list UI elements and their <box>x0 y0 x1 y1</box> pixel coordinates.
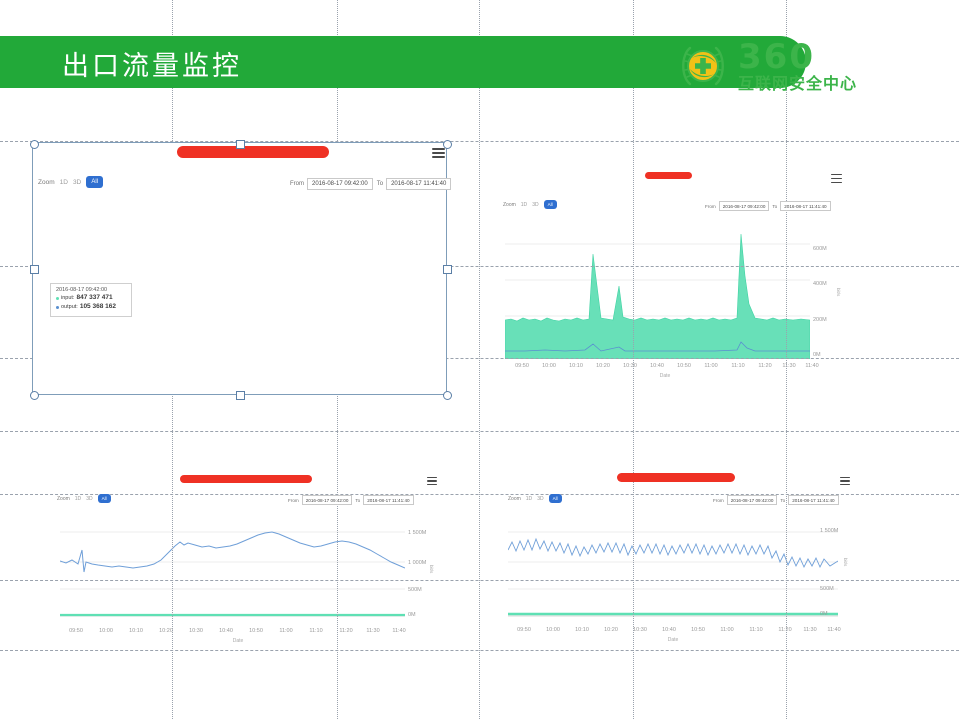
360-shield-icon <box>676 39 730 93</box>
x-axis-name-bottom-left: Date <box>218 638 258 644</box>
to-label: To <box>377 181 383 187</box>
from-input[interactable]: 2016-08-17 09:42:00 <box>727 495 778 505</box>
x-tick-top-right-3: 10:20 <box>592 363 614 369</box>
x-tick-bottom-left-10: 11:30 <box>362 628 384 634</box>
from-input[interactable]: 2016-08-17 09:42:00 <box>719 201 770 211</box>
y-tick-bottom-right-1: 500M <box>820 586 834 592</box>
zoom-label: Zoom <box>38 179 55 186</box>
to-input[interactable]: 2016-08-17 11:41:40 <box>780 201 830 211</box>
resize-handle-tl[interactable] <box>30 140 39 149</box>
x-tick-bottom-right-6: 10:50 <box>687 627 709 633</box>
y-tick-top-right-1: 400M <box>813 281 827 287</box>
zoom-option-3d[interactable]: 3D <box>86 496 92 502</box>
zoom-option-1d[interactable]: 1D <box>526 496 532 502</box>
y-tick-bottom-left-1: 1 000M <box>408 560 426 566</box>
output-color-dot <box>56 306 59 309</box>
y-axis-name-bottom-left: bit/s <box>429 565 434 573</box>
from-label: From <box>713 498 724 503</box>
series-input-line-bottom-left <box>60 532 405 572</box>
x-tick-bottom-right-3: 10:20 <box>600 627 622 633</box>
y-tick-bottom-right-2: 0M <box>820 611 828 617</box>
x-tick-bottom-right-5: 10:40 <box>658 627 680 633</box>
series-input-line-bottom-right <box>508 539 838 567</box>
x-tick-bottom-left-6: 10:50 <box>245 628 267 634</box>
to-label: To <box>772 204 777 209</box>
zoom-option-all[interactable]: All <box>544 200 557 209</box>
brand-logo: 360 互联网安全中心 <box>676 36 916 96</box>
zoom-option-3d[interactable]: 3D <box>73 179 81 186</box>
y-tick-bottom-right-0: 1 500M <box>820 528 838 534</box>
x-tick-bottom-left-9: 11:20 <box>335 628 357 634</box>
zoom-option-3d[interactable]: 3D <box>537 496 543 502</box>
tooltip-input-row: input: 847 337 471 <box>56 294 126 303</box>
chart-menu-icon-top-left[interactable] <box>432 148 445 158</box>
from-label: From <box>705 204 716 209</box>
to-input[interactable]: 2016-08-17 11:41:40 <box>363 495 413 505</box>
x-tick-bottom-right-1: 10:00 <box>542 627 564 633</box>
y-axis-name-top-right: bit/s <box>836 288 841 296</box>
from-input[interactable]: 2016-08-17 09:42:00 <box>302 495 353 505</box>
zoom-option-1d[interactable]: 1D <box>521 202 527 208</box>
resize-handle-bc[interactable] <box>236 391 245 400</box>
chart-menu-icon-bottom-right[interactable] <box>840 477 850 485</box>
x-tick-bottom-left-2: 10:10 <box>125 628 147 634</box>
zoom-controls-bottom-left[interactable]: Zoom 1D 3D All <box>57 494 111 503</box>
x-tick-bottom-right-7: 11:00 <box>716 627 738 633</box>
zoom-label: Zoom <box>503 202 516 208</box>
range-controls-top-left[interactable]: From 2016-08-17 09:42:00 To 2016-08-17 1… <box>290 178 451 190</box>
x-tick-top-right-6: 10:50 <box>673 363 695 369</box>
y-axis-name-bottom-right: bit/s <box>843 558 848 566</box>
x-tick-bottom-right-11: 11:40 <box>823 627 845 633</box>
to-label: To <box>780 498 785 503</box>
x-tick-bottom-right-4: 10:30 <box>629 627 651 633</box>
resize-handle-tc[interactable] <box>236 140 245 149</box>
plot-area-top-right[interactable] <box>505 224 810 359</box>
x-axis-name-bottom-right: Date <box>653 637 693 643</box>
series-input-area-top-right <box>505 234 810 359</box>
y-tick-top-right-3: 0M <box>813 352 821 358</box>
y-tick-top-right-0: 600M <box>813 246 827 252</box>
tooltip-input-label: input: <box>61 295 74 302</box>
range-controls-top-right[interactable]: From 2016-08-17 09:42:00 To 2016-08-17 1… <box>705 201 831 211</box>
resize-handle-br[interactable] <box>443 391 452 400</box>
x-tick-bottom-left-0: 09:50 <box>65 628 87 634</box>
resize-handle-bl[interactable] <box>30 391 39 400</box>
x-tick-top-right-8: 11:10 <box>727 363 749 369</box>
x-axis-name-top-right: Date <box>645 373 685 379</box>
resize-handle-ml[interactable] <box>30 265 39 274</box>
x-tick-bottom-right-2: 10:10 <box>571 627 593 633</box>
x-tick-bottom-left-7: 11:00 <box>275 628 297 634</box>
to-label: To <box>355 498 360 503</box>
x-tick-bottom-left-8: 11:10 <box>305 628 327 634</box>
tooltip-input-value: 847 337 471 <box>76 294 112 303</box>
chart-tooltip: 2016-08-17 09:42:00 input: 847 337 471 o… <box>50 283 132 317</box>
zoom-label: Zoom <box>57 496 70 502</box>
zoom-label: Zoom <box>508 496 521 502</box>
resize-handle-mr[interactable] <box>443 265 452 274</box>
to-input[interactable]: 2016-08-17 11:41:40 <box>386 178 451 190</box>
y-tick-bottom-left-3: 0M <box>408 612 416 618</box>
x-tick-top-right-1: 10:00 <box>538 363 560 369</box>
redaction-bar-bottom-left <box>180 475 312 483</box>
x-tick-bottom-right-8: 11:10 <box>745 627 767 633</box>
y-tick-bottom-left-0: 1 500M <box>408 530 426 536</box>
x-tick-bottom-right-9: 11:20 <box>774 627 796 633</box>
x-tick-bottom-left-3: 10:20 <box>155 628 177 634</box>
redaction-bar-top-right <box>645 172 692 179</box>
tooltip-output-value: 105 368 162 <box>80 303 116 312</box>
chart-menu-icon-top-right[interactable] <box>831 174 842 183</box>
tooltip-output-row: output: 105 368 162 <box>56 303 126 312</box>
range-controls-bottom-left[interactable]: From 2016-08-17 09:42:00 To 2016-08-17 1… <box>288 495 414 505</box>
from-label: From <box>290 181 304 187</box>
x-tick-top-right-11: 11:40 <box>801 363 823 369</box>
zoom-option-all[interactable]: All <box>549 494 562 503</box>
x-tick-top-right-4: 10:30 <box>619 363 641 369</box>
tooltip-output-label: output: <box>61 304 78 311</box>
zoom-option-1d[interactable]: 1D <box>60 179 68 186</box>
x-tick-bottom-left-4: 10:30 <box>185 628 207 634</box>
to-input[interactable]: 2016-08-17 11:41:40 <box>788 495 838 505</box>
x-tick-bottom-right-0: 09:50 <box>513 627 535 633</box>
brand-subtitle: 互联网安全中心 <box>738 76 857 92</box>
brand-name: 360 <box>738 40 857 74</box>
zoom-controls-top-right[interactable]: Zoom 1D 3D All <box>503 200 557 209</box>
zoom-option-3d[interactable]: 3D <box>532 202 538 208</box>
x-tick-bottom-right-10: 11:30 <box>799 627 821 633</box>
redaction-bar-top-left <box>177 146 329 158</box>
x-tick-bottom-left-11: 11:40 <box>388 628 410 634</box>
x-tick-top-right-9: 11:20 <box>754 363 776 369</box>
zoom-option-all[interactable]: All <box>86 176 103 188</box>
y-tick-bottom-left-2: 500M <box>408 587 422 593</box>
zoom-option-1d[interactable]: 1D <box>75 496 81 502</box>
x-tick-top-right-7: 11:00 <box>700 363 722 369</box>
chart-menu-icon-bottom-left[interactable] <box>427 477 437 485</box>
range-controls-bottom-right[interactable]: From 2016-08-17 09:42:00 To 2016-08-17 1… <box>713 495 839 505</box>
x-tick-top-right-10: 11:30 <box>778 363 800 369</box>
zoom-controls-top-left[interactable]: Zoom 1D 3D All <box>38 176 103 188</box>
from-label: From <box>288 498 299 503</box>
tooltip-timestamp: 2016-08-17 09:42:00 <box>56 287 126 294</box>
x-tick-bottom-left-1: 10:00 <box>95 628 117 634</box>
x-tick-bottom-left-5: 10:40 <box>215 628 237 634</box>
resize-handle-tr[interactable] <box>443 140 452 149</box>
y-tick-top-right-2: 200M <box>813 317 827 323</box>
from-input[interactable]: 2016-08-17 09:42:00 <box>307 178 373 190</box>
x-tick-top-right-2: 10:10 <box>565 363 587 369</box>
redaction-bar-bottom-right <box>617 473 735 482</box>
zoom-option-all[interactable]: All <box>98 494 111 503</box>
plot-area-bottom-right[interactable] <box>508 520 838 620</box>
page-title: 出口流量监控 <box>62 44 242 83</box>
zoom-controls-bottom-right[interactable]: Zoom 1D 3D All <box>508 494 562 503</box>
x-tick-top-right-0: 09:50 <box>511 363 533 369</box>
plot-area-bottom-left[interactable] <box>60 520 405 620</box>
input-color-dot <box>56 297 59 300</box>
x-tick-top-right-5: 10:40 <box>646 363 668 369</box>
